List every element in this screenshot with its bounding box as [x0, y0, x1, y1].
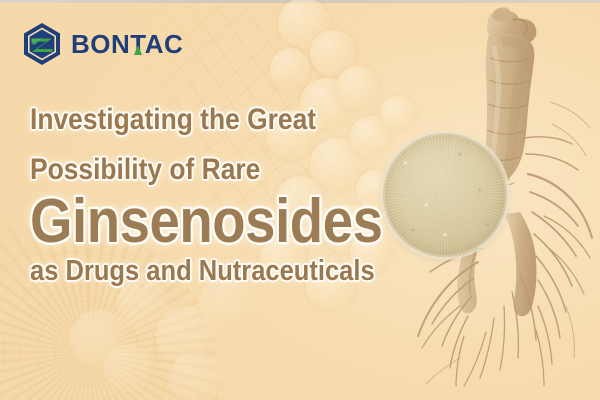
banner-ginsenosides: BONTAC: [0, 0, 600, 400]
top-edge-strip: [0, 0, 600, 3]
headline-block: Investigating the Great Possibility of R…: [30, 105, 430, 286]
headline-line-4: as Drugs and Nutraceuticals: [30, 257, 382, 286]
headline-line-3-emphasis: Ginsenosides: [30, 191, 382, 253]
headline-line-2: Possibility of Rare: [30, 155, 382, 185]
bontac-wordmark: BONTAC: [71, 31, 183, 57]
headline-line-1: Investigating the Great: [30, 105, 382, 135]
bontac-hexagon-logo-icon: [22, 22, 62, 66]
bontac-a-accent-icon: [134, 45, 142, 55]
bontac-logo[interactable]: BONTAC: [22, 22, 183, 66]
